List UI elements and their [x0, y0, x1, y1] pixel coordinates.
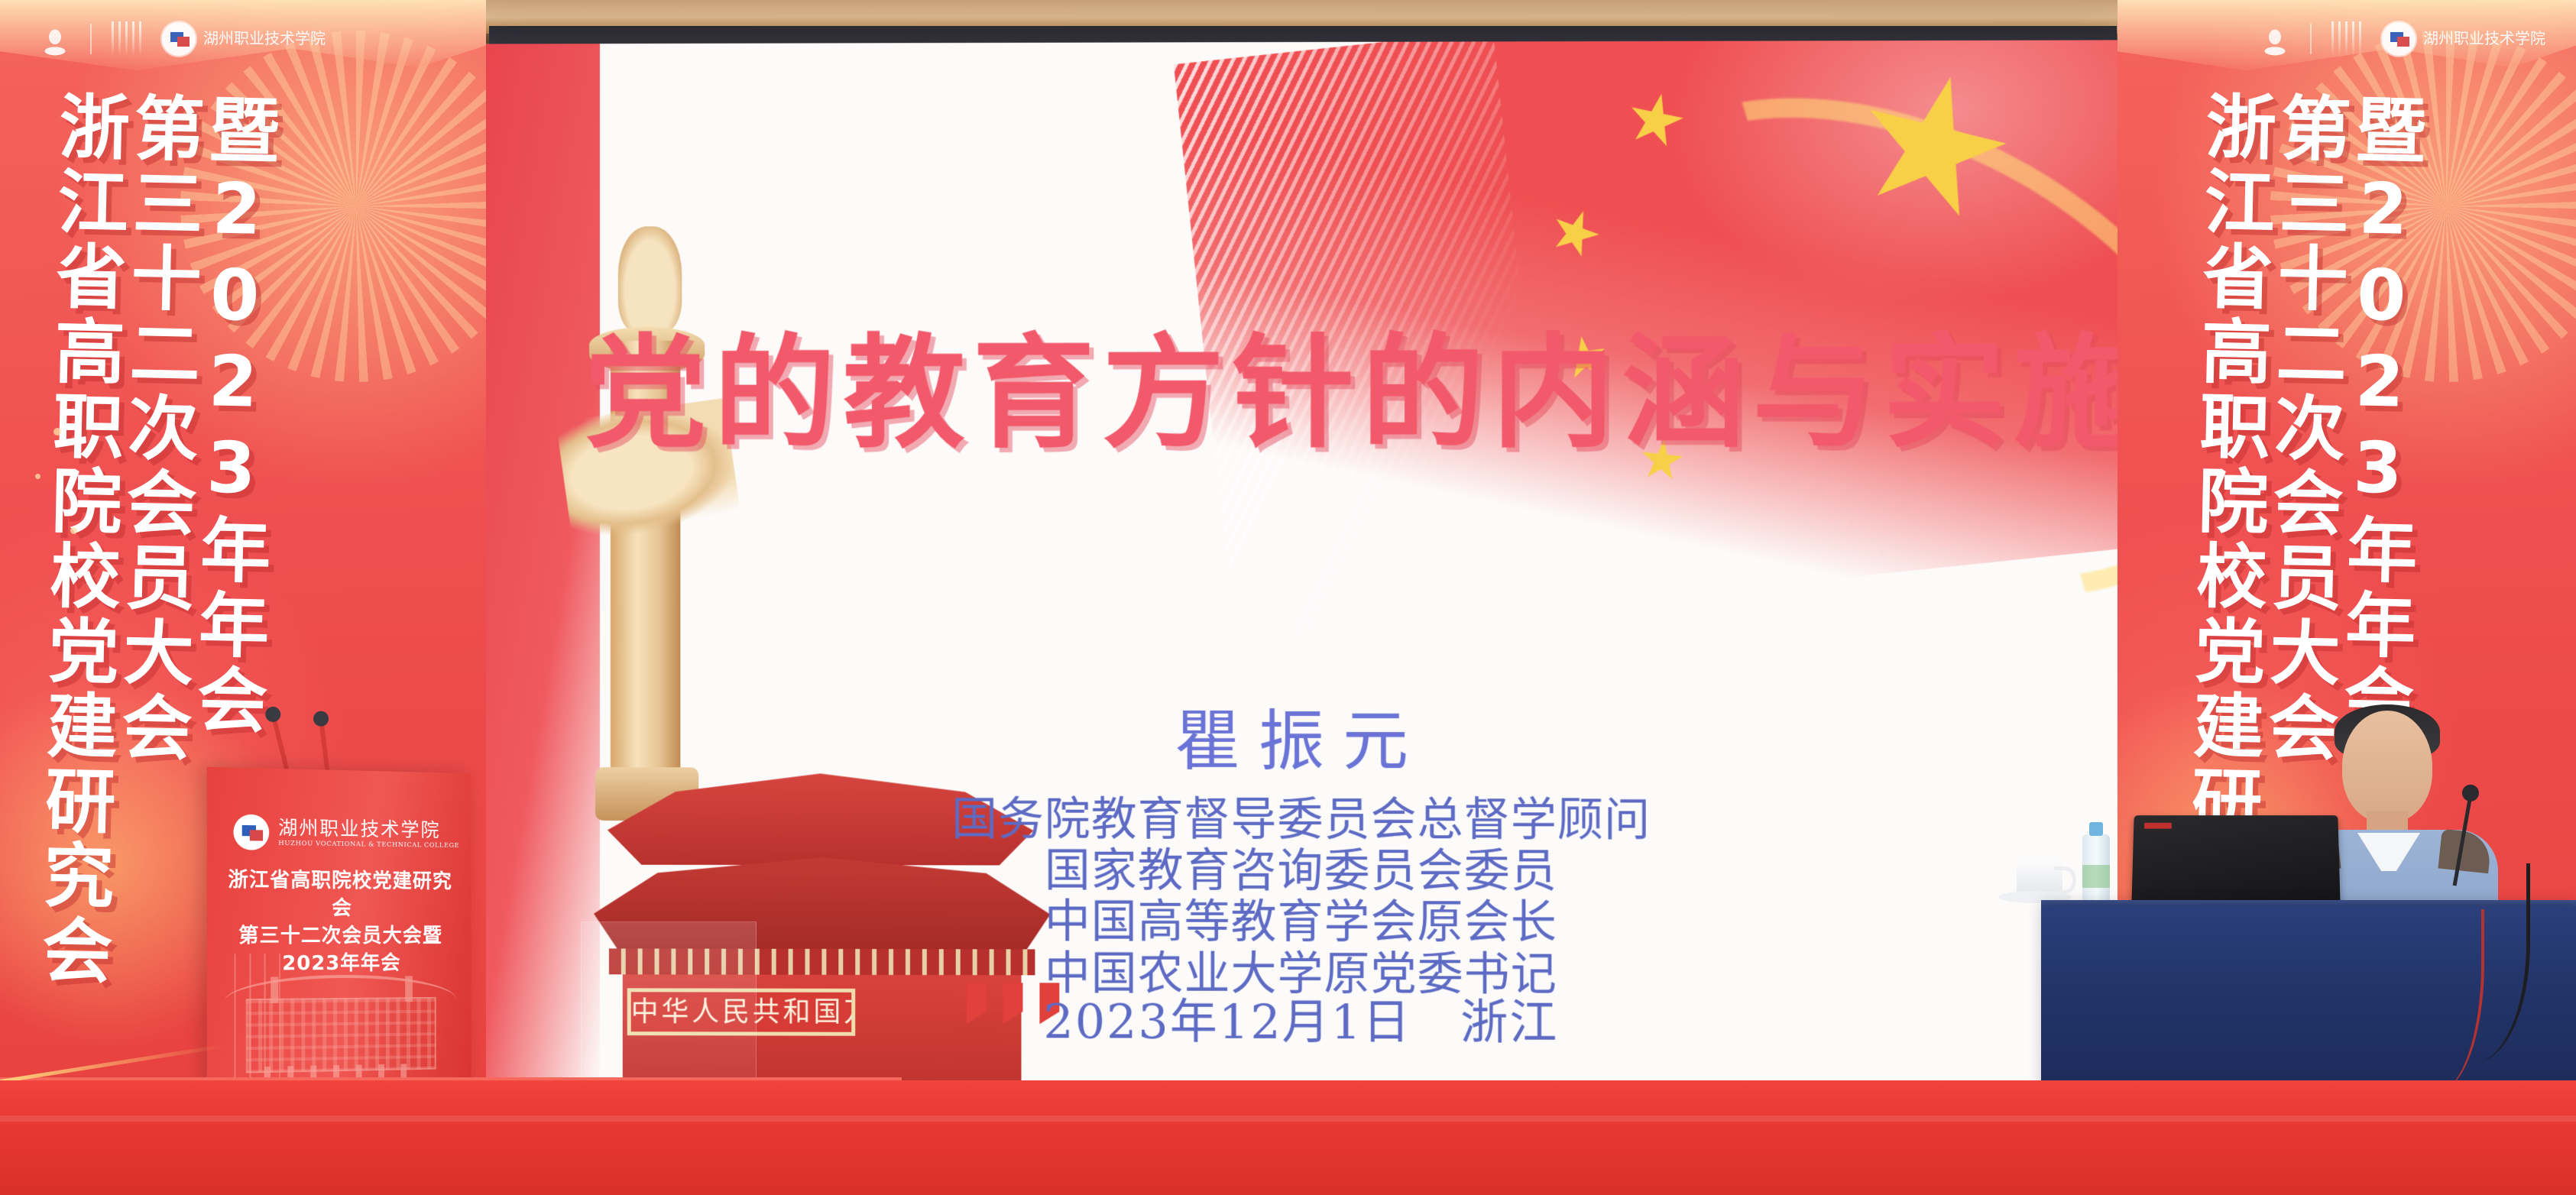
building-facade — [246, 997, 436, 1074]
podium-line: 浙江省高职院校党建研究会 — [221, 866, 458, 923]
huzhou-college-mark-icon — [234, 814, 270, 850]
logo-divider — [2310, 24, 2312, 54]
slide-title: 党的教育方针的内涵与实施 — [585, 293, 2036, 472]
huzhou-college-mark-icon — [2382, 22, 2416, 56]
stage-floor — [0, 1080, 2576, 1195]
partner-logo-vertical-right — [2331, 21, 2362, 57]
banner-logo-row-right: 湖州职业技术学院 — [2260, 21, 2545, 57]
partner-logo-vertical-left — [112, 21, 142, 57]
speaker-head — [2342, 711, 2432, 822]
speaker-name: 瞿振元 — [471, 687, 2137, 784]
huzhou-college-logo-left: 湖州职业技术学院 — [162, 22, 326, 56]
mono-logo-icon — [2260, 22, 2290, 56]
water-bottle — [2082, 834, 2110, 908]
banner-column-2: 第三十二次会员大会 — [110, 91, 199, 991]
credential-line: 国家教育咨询委员会委员 — [471, 845, 2137, 899]
laptop — [2131, 815, 2340, 906]
credential-line: 国务院教育督导委员会总督学顾问 — [471, 794, 2137, 847]
podium-logo-en: HUZHOU VOCATIONAL & TECHNICAL COLLEGE — [278, 840, 459, 850]
vertical-logo-icon — [2331, 21, 2362, 57]
vertical-logo-icon — [112, 21, 142, 57]
banner-column-1: 浙江省高职院校党建研究会 — [35, 89, 125, 989]
mono-logo-icon — [40, 22, 70, 56]
confetti-dot — [35, 474, 41, 479]
speaking-podium: 湖州职业技术学院 HUZHOU VOCATIONAL & TECHNICAL C… — [207, 767, 471, 1103]
confetti-dot — [70, 527, 77, 534]
banner-logo-row-left: 湖州职业技术学院 — [40, 21, 326, 57]
huzhou-college-mark-icon — [162, 22, 196, 56]
partner-logo-mono-left — [40, 22, 70, 56]
stage-floor-edge — [0, 1116, 2576, 1122]
huzhou-college-logo-right: 湖州职业技术学院 — [2382, 22, 2545, 56]
podium-line: 第三十二次会员大会暨 — [221, 922, 458, 950]
partner-logo-mono-right — [2260, 22, 2290, 56]
huzhou-college-name: 湖州职业技术学院 — [2423, 31, 2545, 47]
logo-divider — [90, 24, 92, 54]
huzhou-college-name: 湖州职业技术学院 — [203, 31, 326, 47]
podium-logo-text: 湖州职业技术学院 HUZHOU VOCATIONAL & TECHNICAL C… — [278, 818, 459, 850]
confetti-dot — [53, 428, 61, 436]
podium-logo: 湖州职业技术学院 HUZHOU VOCATIONAL & TECHNICAL C… — [234, 814, 460, 853]
podium-logo-cn: 湖州职业技术学院 — [278, 816, 440, 840]
conference-stage-scene: 中华人民共和国万岁 党的教育方针的内涵与实施 瞿振元 国务院教育督导委员会总督学… — [0, 0, 2576, 1195]
